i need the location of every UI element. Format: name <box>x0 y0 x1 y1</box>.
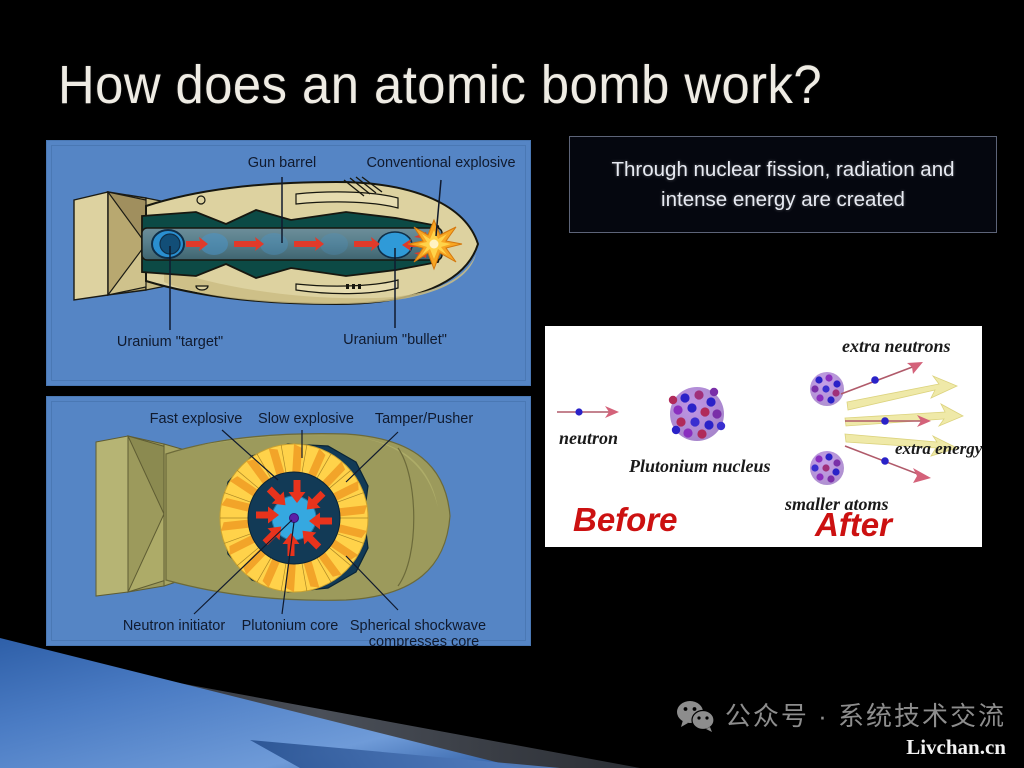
watermark: 公众号 · 系统技术交流 Livchan.cn <box>676 699 1006 760</box>
gun-bomb-diagram: Gun barrel Conventional explosive Uraniu… <box>46 140 531 386</box>
implosion-bomb-illustration: Fast explosive Slow explosive Tamper/Pus… <box>46 396 531 646</box>
label-slow-explosive: Slow explosive <box>258 411 354 427</box>
label-before: Before <box>573 501 678 538</box>
label-uranium-bullet: Uranium "bullet" <box>343 332 447 348</box>
blue-wedge <box>0 638 520 768</box>
plutonium-nucleus-cluster <box>669 387 725 441</box>
fission-illustration: neutron Plutonium nucleus Before <box>545 326 982 547</box>
gun-bomb-illustration: Gun barrel Conventional explosive Uraniu… <box>46 140 531 386</box>
page-title: How does an atomic bomb work? <box>58 52 904 122</box>
implosion-bomb-diagram: Fast explosive Slow explosive Tamper/Pus… <box>46 396 531 646</box>
label-neutron: neutron <box>559 428 618 448</box>
label-gun-barrel: Gun barrel <box>248 155 317 171</box>
watermark-site-text: Livchan.cn <box>676 734 1006 760</box>
fission-diagram: neutron Plutonium nucleus Before <box>545 326 982 547</box>
label-uranium-target: Uranium "target" <box>117 334 223 350</box>
callout-text: Through nuclear fission, radiation and i… <box>570 155 996 215</box>
label-plutonium-nucleus: Plutonium nucleus <box>628 456 771 476</box>
wechat-icon <box>676 699 716 733</box>
label-fast-explosive: Fast explosive <box>150 411 243 427</box>
neutron-arrow <box>557 406 619 418</box>
label-compresses-core: compresses core <box>369 634 479 646</box>
label-tamper-pusher: Tamper/Pusher <box>375 411 473 427</box>
label-extra-neutrons: extra neutrons <box>842 336 951 356</box>
label-plutonium-core: Plutonium core <box>242 618 339 634</box>
slide-canvas: How does an atomic bomb work? Through nu… <box>0 0 1024 768</box>
smaller-atom-top <box>810 372 844 406</box>
blue-wedge-secondary <box>250 740 560 768</box>
label-after: After <box>814 506 894 543</box>
label-spherical-shockwave: Spherical shockwave <box>350 618 486 634</box>
label-extra-energy: extra energy <box>895 439 982 458</box>
label-neutron-initiator: Neutron initiator <box>123 618 226 634</box>
watermark-account-row: 公众号 · 系统技术交流 <box>676 699 1006 733</box>
callout-textbox: Through nuclear fission, radiation and i… <box>569 136 997 233</box>
watermark-account-text: 公众号 · 系统技术交流 <box>725 700 1006 732</box>
gray-stripe <box>0 650 640 768</box>
label-conventional-explosive: Conventional explosive <box>366 155 515 171</box>
smaller-atom-bottom <box>810 451 844 485</box>
